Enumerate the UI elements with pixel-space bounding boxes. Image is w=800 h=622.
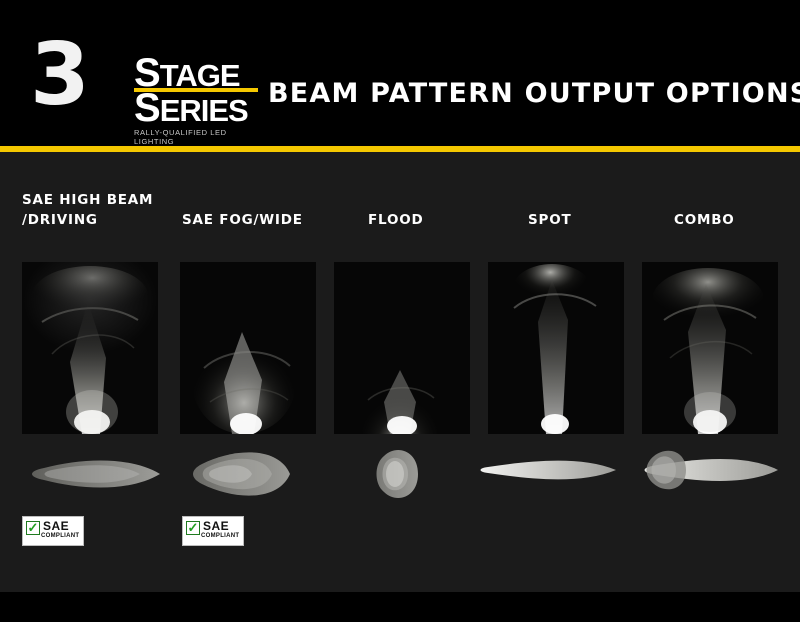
beam-diagram-flood [368, 442, 430, 511]
logo-tagline: RALLY-QUALIFIED LED LIGHTING [134, 128, 240, 146]
photo-art-flood [334, 262, 470, 434]
beam-photo-wide [180, 262, 316, 434]
check-icon: ✓ [186, 521, 200, 535]
beam-diagram-spot [470, 448, 620, 497]
badge-title-driving: SAE [43, 519, 69, 533]
logo-series-capital: S [134, 86, 160, 130]
column-driving-label-line2: /DRIVING [22, 210, 182, 230]
column-combo-label-line1: COMBO [674, 210, 800, 230]
column-driving-label: SAE HIGH BEAM /DRIVING [22, 190, 182, 230]
sae-compliant-badge-driving: ✓ SAE COMPLIANT [22, 516, 84, 546]
page-title: BEAM PATTERN OUTPUT OPTIONS [268, 78, 778, 109]
beam-diagram-combo [630, 442, 782, 503]
beam-photo-spot [488, 262, 624, 434]
poster-footer [0, 592, 800, 622]
beam-pattern-poster: 3 STAGE SERIES RALLY-QUALIFIED LED LIGHT… [0, 0, 800, 622]
beam-photo-combo [642, 262, 778, 434]
sae-compliant-badge-wide: ✓ SAE COMPLIANT [182, 516, 244, 546]
beam-photo-driving [22, 262, 158, 434]
beam-diagram-driving [22, 448, 164, 505]
column-spot-label: SPOT [528, 210, 668, 230]
logo-series-text: SERIES [134, 93, 248, 126]
check-icon: ✓ [26, 521, 40, 535]
beam-photo-flood [334, 262, 470, 434]
badge-subtitle-driving: COMPLIANT [41, 533, 79, 539]
photo-art-wide [180, 262, 316, 434]
badge-title-wide: SAE [203, 519, 229, 533]
photo-glow-driving [22, 262, 158, 434]
column-combo-label: COMBO [674, 210, 800, 230]
column-wide-label: SAE FOG/WIDE [182, 210, 342, 230]
column-driving-label-line1: SAE HIGH BEAM [22, 190, 182, 210]
photo-art-combo [642, 262, 778, 434]
photo-art-spot [488, 262, 624, 434]
column-flood-label: FLOOD [368, 210, 508, 230]
poster-header: 3 STAGE SERIES RALLY-QUALIFIED LED LIGHT… [0, 0, 800, 146]
beam-diagram-wide [186, 444, 296, 509]
badge-subtitle-wide: COMPLIANT [201, 533, 239, 539]
column-flood-label-line1: FLOOD [368, 210, 508, 230]
column-spot-label-line1: SPOT [528, 210, 668, 230]
poster-body: SAE HIGH BEAM /DRIVING [0, 152, 800, 592]
column-wide-label-line1: SAE FOG/WIDE [182, 210, 342, 230]
logo-series-rest: ERIES [160, 93, 248, 128]
logo-numeral: 3 [30, 32, 86, 118]
brand-logo: 3 STAGE SERIES RALLY-QUALIFIED LED LIGHT… [30, 28, 240, 128]
